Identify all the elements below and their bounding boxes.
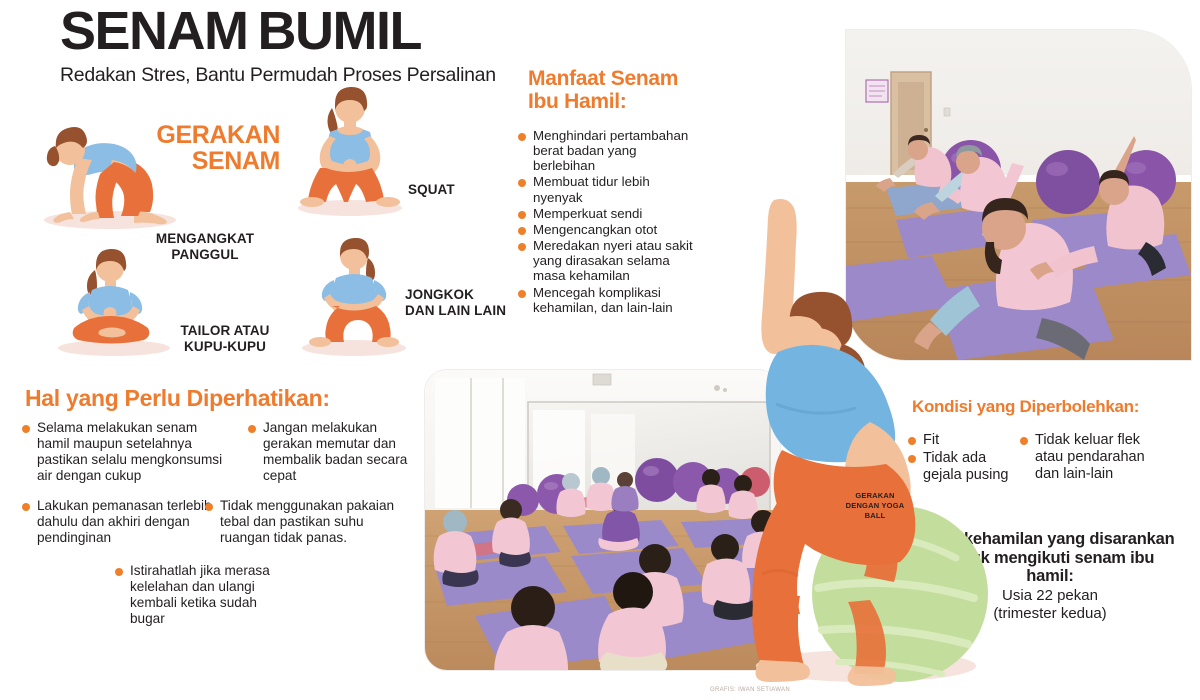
- exercise-label-squat: SQUAT: [408, 182, 455, 198]
- exercise-label-line1: TAILOR ATAU: [160, 323, 290, 339]
- ball-label-line2: DENGAN YOGA: [832, 501, 918, 511]
- manfaat-heading-line2: Ibu Hamil:: [528, 91, 728, 114]
- manfaat-heading: Manfaat Senam Ibu Hamil:: [528, 68, 728, 113]
- list-item: Jangan melakukan gerakan memutar dan mem…: [248, 420, 413, 484]
- page-title: SENAMBUMIL: [60, 4, 490, 58]
- list-item: Istirahatlah jika merasa kelelahan dan u…: [115, 563, 290, 627]
- list-item: Meredakan nyeri atau sakit yang dirasaka…: [518, 238, 698, 283]
- manfaat-list: Menghindari pertambahan berat badan yang…: [518, 128, 698, 316]
- list-item: Selama melakukan senam hamil maupun sete…: [22, 420, 227, 484]
- exercise-label-line1: MENGANGKAT: [140, 231, 270, 247]
- ball-label-line1: GERAKAN: [832, 491, 918, 501]
- list-item: Mencegah komplikasi kehamilan, dan lain-…: [518, 285, 698, 315]
- title-block: SENAMBUMIL Redakan Stres, Bantu Permudah…: [60, 4, 490, 87]
- page-subtitle: Redakan Stres, Bantu Permudah Proses Per…: [60, 64, 490, 87]
- title-word-1: SENAM: [60, 1, 248, 61]
- kondisi-list-right: Tidak keluar flek atau pendarahan dan la…: [1020, 432, 1160, 483]
- list-item: Tidak menggunakan pakaian tebal dan past…: [205, 498, 405, 546]
- list-item: Menghindari pertambahan berat badan yang…: [518, 128, 698, 173]
- title-word-2: BUMIL: [258, 1, 421, 61]
- exercise-label-mengangkat-panggul: MENGANGKAT PANGGUL: [140, 231, 270, 264]
- list-item: Memperkuat sendi: [518, 206, 698, 221]
- illustration-yoga-ball-figure: [718, 196, 1003, 686]
- graphics-credit: GRAFIS: IWAN SETIAWAN: [710, 687, 790, 693]
- exercise-label-line2: KUPU-KUPU: [160, 339, 290, 355]
- infographic-root: SENAMBUMIL Redakan Stres, Bantu Permudah…: [0, 0, 1200, 700]
- list-item: Mengencangkan otot: [518, 222, 698, 237]
- exercise-label-tailor: TAILOR ATAU KUPU-KUPU: [160, 323, 290, 356]
- perhatikan-list-col2: Jangan melakukan gerakan memutar dan mem…: [248, 420, 413, 485]
- list-item: Tidak keluar flek atau pendarahan dan la…: [1020, 432, 1160, 482]
- illustration-mengangkat-panggul: [28, 112, 188, 230]
- perhatikan-list-col1: Selama melakukan senam hamil maupun sete…: [22, 420, 227, 485]
- ball-label-line3: BALL: [832, 511, 918, 521]
- illustration-squat: [282, 82, 417, 217]
- manfaat-heading-line1: Manfaat Senam: [528, 68, 728, 91]
- ball-illustration-label: GERAKAN DENGAN YOGA BALL: [832, 491, 918, 521]
- perhatikan-list-col5: Istirahatlah jika merasa kelelahan dan u…: [115, 563, 290, 628]
- perhatikan-list-col4: Tidak menggunakan pakaian tebal dan past…: [205, 498, 405, 547]
- list-item: Lakukan pemanasan terlebih dahulu dan ak…: [22, 498, 217, 546]
- exercise-label-jongkok: JONGKOK DAN LAIN LAIN: [405, 287, 515, 320]
- perhatikan-heading: Hal yang Perlu Diperhatikan:: [25, 386, 425, 411]
- exercise-label-line1: JONGKOK: [405, 287, 515, 303]
- perhatikan-list-col3: Lakukan pemanasan terlebih dahulu dan ak…: [22, 498, 217, 547]
- exercise-label-line2: PANGGUL: [140, 247, 270, 263]
- exercise-label-line2: DAN LAIN LAIN: [405, 303, 515, 319]
- list-item: Membuat tidur lebih nyenyak: [518, 174, 698, 204]
- illustration-jongkok: [290, 238, 420, 356]
